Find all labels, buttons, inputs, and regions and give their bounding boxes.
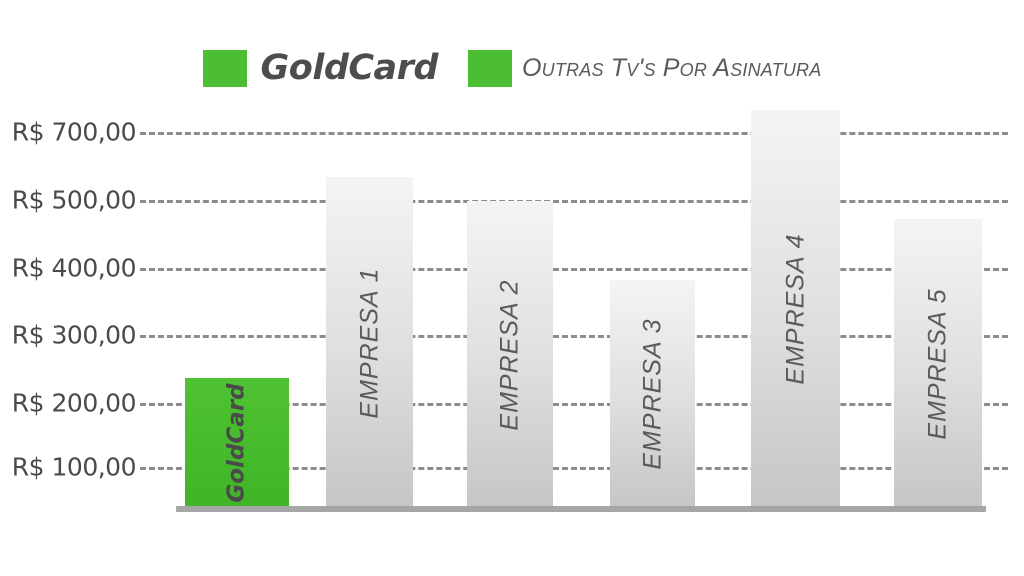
y-axis-tick-label-300: R$ 300,00	[12, 323, 136, 348]
plot-area: R$ 700,00 R$ 500,00 R$ 400,00 R$ 300,00 …	[0, 0, 1024, 576]
bar-empresa-4[interactable]: EMPRESA 4	[751, 110, 840, 508]
bar-label-goldcard: GoldCard	[226, 383, 249, 502]
x-axis-baseline	[176, 506, 986, 512]
bar-empresa-3[interactable]: EMPRESA 3	[610, 280, 695, 508]
bar-chart: GoldCard Outras Tv's Por Asinatura R$ 70…	[0, 0, 1024, 576]
bar-empresa-5[interactable]: EMPRESA 5	[894, 219, 982, 508]
bar-empresa-1[interactable]: EMPRESA 1	[326, 177, 413, 508]
bar-label-empresa-3: EMPRESA 3	[640, 318, 665, 469]
bar-label-empresa-1: EMPRESA 1	[357, 267, 382, 418]
y-axis-tick-label-400: R$ 400,00	[12, 256, 136, 281]
gridline-300	[140, 335, 1008, 338]
y-axis-tick-label-200: R$ 200,00	[12, 391, 136, 416]
y-axis-tick-label-500: R$ 500,00	[12, 188, 136, 213]
bar-label-empresa-5: EMPRESA 5	[926, 288, 951, 439]
y-axis-tick-300: R$ 300,00	[0, 335, 136, 336]
gridline-700	[140, 132, 1008, 135]
y-axis-tick-200: R$ 200,00	[0, 403, 136, 404]
gridline-400	[140, 268, 1008, 271]
y-axis-tick-label-100: R$ 100,00	[12, 455, 136, 480]
y-axis-tick-700: R$ 700,00	[0, 132, 136, 133]
bar-goldcard[interactable]: GoldCard	[185, 378, 289, 508]
y-axis-tick-400: R$ 400,00	[0, 268, 136, 269]
gridline-500	[140, 200, 1008, 203]
bar-label-empresa-4: EMPRESA 4	[783, 233, 808, 384]
y-axis-tick-label-700: R$ 700,00	[12, 120, 136, 145]
bar-empresa-2[interactable]: EMPRESA 2	[467, 201, 553, 508]
bar-label-empresa-2: EMPRESA 2	[498, 279, 523, 430]
y-axis-tick-100: R$ 100,00	[0, 467, 136, 468]
y-axis-tick-500: R$ 500,00	[0, 200, 136, 201]
